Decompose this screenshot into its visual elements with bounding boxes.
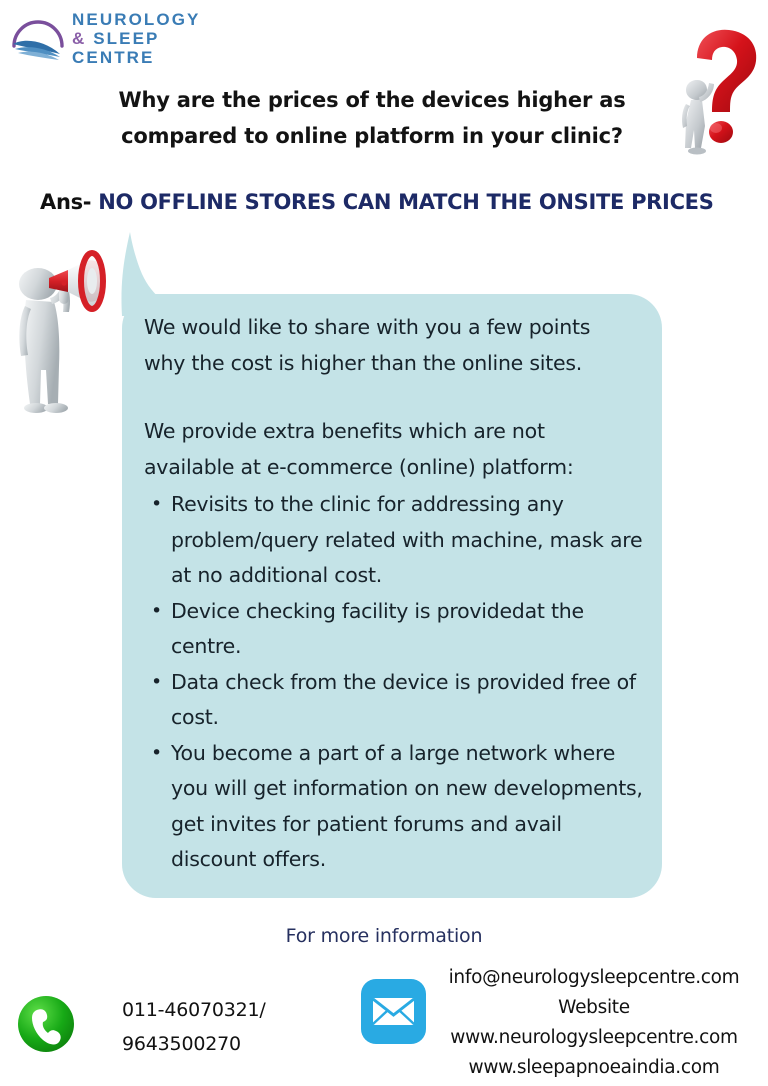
answer-prefix: Ans- (40, 190, 91, 214)
answer-text: NO OFFLINE STORES CAN MATCH THE ONSITE P… (98, 190, 713, 214)
phone-line-2: 9643500270 (122, 1027, 322, 1061)
email-address[interactable]: info@neurologysleepcentre.com (434, 963, 754, 993)
logo-ampersand: & (72, 29, 86, 48)
bubble-p2-line1: We provide extra benefits which are not (144, 414, 650, 450)
benefits-list: Revisits to the clinic for addressing an… (144, 487, 650, 878)
brand-logo: NEUROLOGY & SLEEP CENTRE (6, 4, 226, 76)
list-item: Revisits to the clinic for addressing an… (144, 487, 650, 594)
website-url-2[interactable]: www.sleepapnoeaindia.com (434, 1053, 754, 1083)
bubble-p1-line1: We would like to share with you a few po… (144, 310, 650, 346)
contact-details: info@neurologysleepcentre.com Website ww… (434, 963, 754, 1083)
answer-heading: Ans- NO OFFLINE STORES CAN MATCH THE ONS… (40, 188, 740, 216)
sunrise-wave-logo-icon (10, 10, 68, 66)
question-line-1: Why are the prices of the devices higher… (92, 82, 652, 118)
website-label: Website (434, 993, 754, 1023)
list-item: Device checking facility is providedat t… (144, 594, 650, 665)
list-item: Data check from the device is provided f… (144, 665, 650, 736)
question-heading: Why are the prices of the devices higher… (92, 82, 652, 154)
red-question-mark-with-person-icon (664, 22, 768, 158)
logo-sleep-word: SLEEP (93, 29, 159, 48)
envelope-icon[interactable] (360, 978, 427, 1045)
list-item: You become a part of a large network whe… (144, 736, 650, 878)
phone-line-1: 011-46070321/ (122, 993, 322, 1027)
question-line-2: compared to online platform in your clin… (92, 118, 652, 154)
more-info-label: For more information (0, 925, 768, 947)
website-url-1[interactable]: www.neurologysleepcentre.com (434, 1023, 754, 1053)
phone-numbers: 011-46070321/ 9643500270 (122, 993, 322, 1061)
bubble-paragraph-2: We provide extra benefits which are not … (144, 414, 650, 485)
logo-line-sleep: & SLEEP (72, 29, 200, 48)
answer-speech-bubble: We would like to share with you a few po… (122, 294, 662, 898)
bubble-spacer (144, 381, 650, 414)
logo-line-neurology: NEUROLOGY (72, 10, 200, 29)
bubble-paragraph-1: We would like to share with you a few po… (144, 310, 650, 381)
bubble-content: We would like to share with you a few po… (144, 310, 650, 878)
logo-line-centre: CENTRE (72, 48, 200, 67)
bubble-p1-line2: why the cost is higher than the online s… (144, 346, 650, 382)
brand-logo-text: NEUROLOGY & SLEEP CENTRE (72, 10, 200, 67)
phone-handset-icon[interactable] (17, 995, 75, 1053)
bubble-p2-line2: available at e-commerce (online) platfor… (144, 450, 650, 486)
